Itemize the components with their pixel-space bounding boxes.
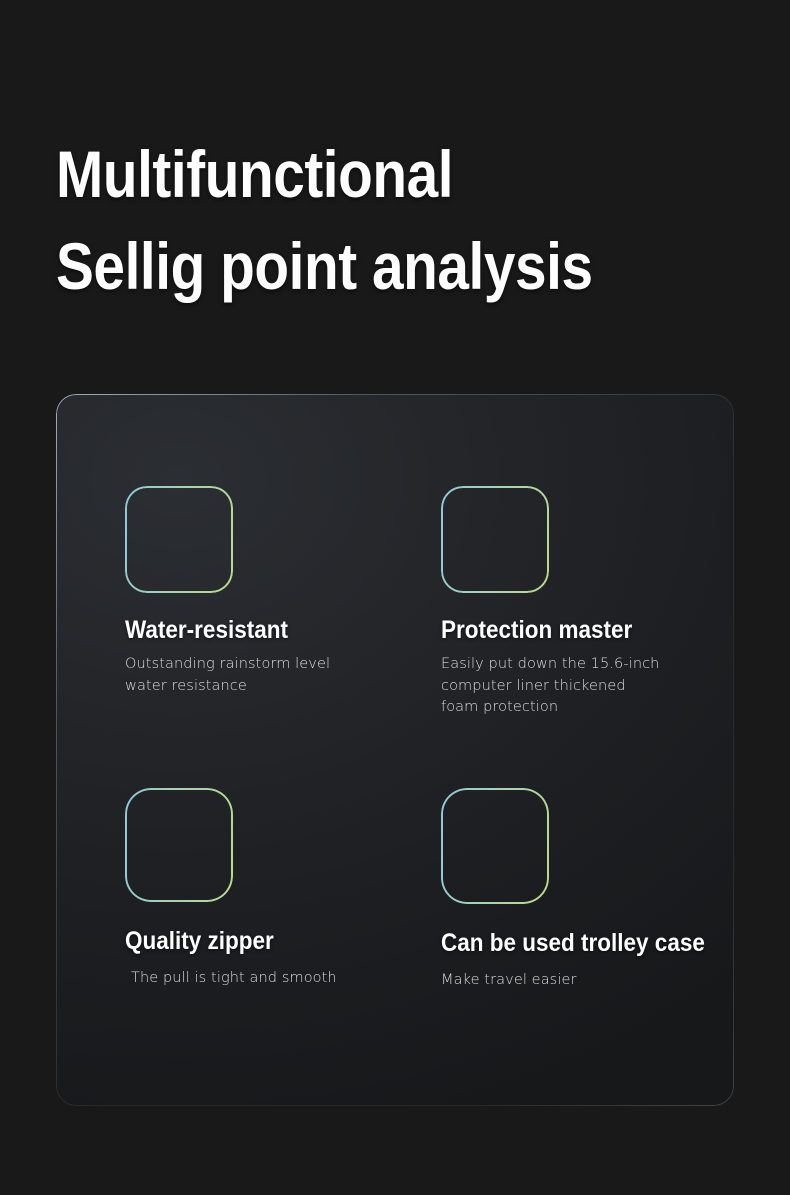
feature-description: Make travel easier — [441, 970, 734, 992]
trolley-case-icon — [443, 790, 547, 902]
umbrella-rain-icon — [127, 488, 231, 591]
feature-description: The pull is tight and smooth — [131, 968, 337, 990]
selling-point-card: Water-resistant Outstanding rainstorm le… — [56, 394, 734, 1106]
icon-frame — [441, 788, 549, 904]
icon-frame — [125, 486, 233, 593]
feature-description: Outstanding rainstorm levelwater resista… — [125, 654, 330, 697]
icon-frame — [125, 788, 233, 902]
feature-title: Water-resistant — [125, 615, 310, 645]
feature-grid: Water-resistant Outstanding rainstorm le… — [56, 394, 734, 1106]
feature-title: Can be used trolley case — [441, 928, 705, 958]
icon-frame — [441, 486, 549, 593]
page-title-line-1: Multifunctional — [56, 128, 658, 220]
feature-protection-master: Protection master Easily put down the 15… — [441, 486, 659, 719]
zipper-icon — [127, 790, 231, 900]
feature-trolley-case: Can be used trolley case Make travel eas… — [441, 788, 734, 992]
laptop-icon — [443, 488, 547, 591]
page-title: Multifunctional Sellig point analysis — [56, 128, 756, 312]
feature-quality-zipper: Quality zipper The pull is tight and smo… — [125, 788, 337, 990]
feature-description: Easily put down the 15.6-inchcomputer li… — [441, 654, 659, 719]
feature-water-resistant: Water-resistant Outstanding rainstorm le… — [125, 486, 330, 697]
feature-title: Protection master — [441, 615, 638, 645]
feature-title: Quality zipper — [125, 926, 316, 956]
page-title-line-2: Sellig point analysis — [56, 220, 658, 312]
